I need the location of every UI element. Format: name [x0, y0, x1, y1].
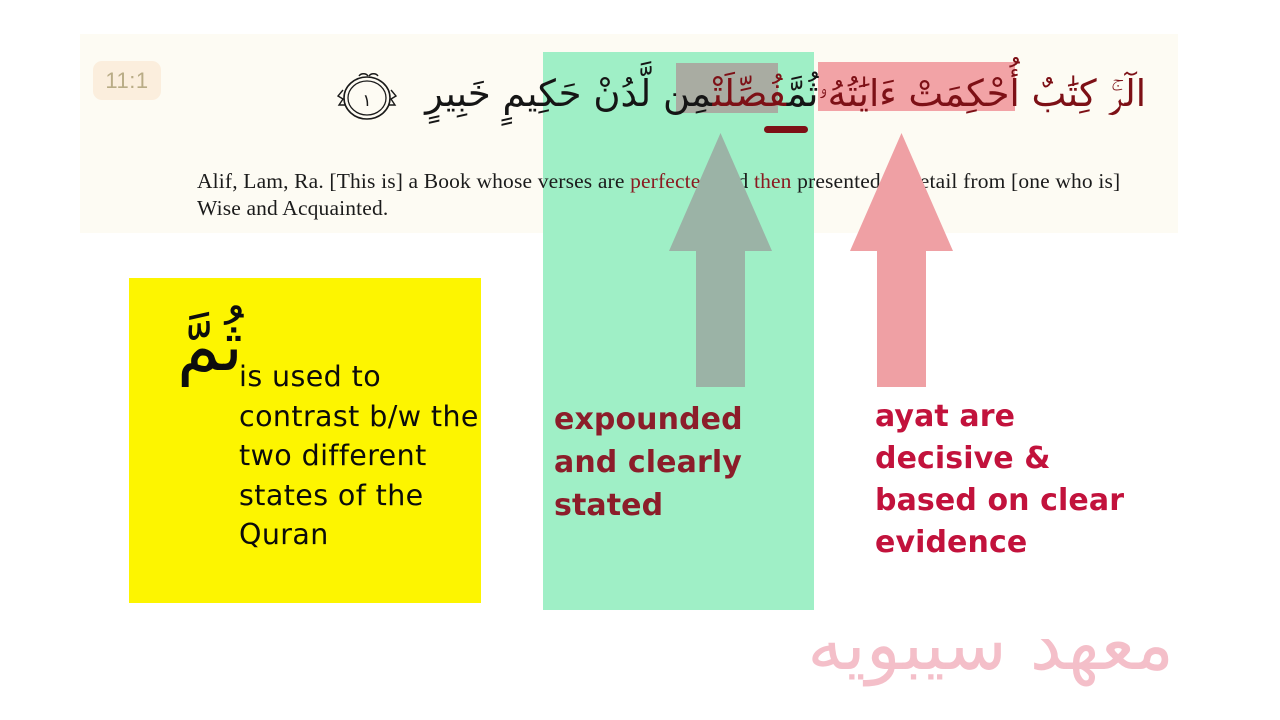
- arabic-gray-highlight: [676, 63, 778, 113]
- caption-red-column: ayat are decisive & based on clear evide…: [875, 396, 1125, 564]
- arrow-up-green-icon: [669, 133, 772, 387]
- arrow-up-green: [669, 133, 772, 387]
- translation-part-1: Alif, Lam, Ra. [This is] a Book whose ve…: [197, 169, 630, 193]
- verse-translation: Alif, Lam, Ra. [This is] a Book whose ve…: [197, 168, 1137, 222]
- arabic-red-highlight: [818, 62, 1015, 111]
- caption-green-column: expounded and clearly stated: [554, 398, 804, 527]
- arrow-up-red: [850, 133, 953, 387]
- ayah-marker-icon: ١: [337, 72, 397, 124]
- thumma-underline: [764, 126, 808, 133]
- yellow-note-box: ثُمَّ is used to contrast b/w the two di…: [129, 278, 481, 603]
- arrow-up-red-icon: [850, 133, 953, 387]
- verse-reference-badge: 11:1: [93, 61, 161, 100]
- watermark-logo: معهد سيبويه: [874, 596, 1174, 692]
- yellow-note-text: is used to contrast b/w the two differen…: [239, 357, 479, 555]
- slide-canvas: 11:1 الٓرۚ كِتَٰبٌ أُحْكِمَتْ ءَايَٰتُهُ…: [0, 0, 1280, 720]
- ayah-number-text: ١: [362, 91, 371, 111]
- ayah-number-marker: ١: [337, 72, 397, 124]
